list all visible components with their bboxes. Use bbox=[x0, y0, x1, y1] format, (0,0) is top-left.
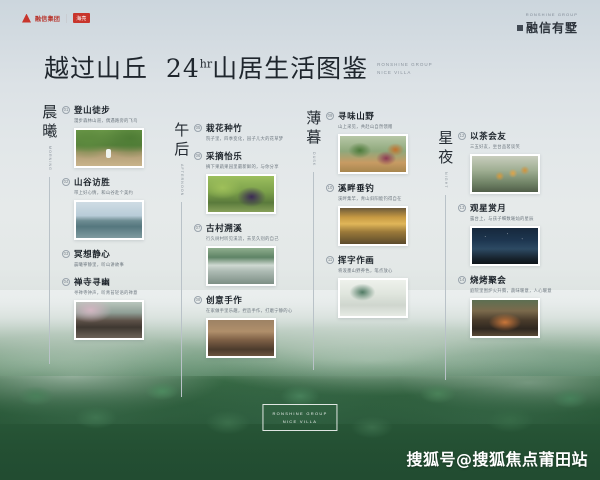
mountain-hiking-trail-photo bbox=[76, 130, 142, 166]
poster-title-main: 越过山丘 24hr山居生活图鉴 bbox=[44, 56, 368, 81]
sohu-watermark: 搜狐号@搜狐焦点莆田站 bbox=[406, 446, 588, 470]
poster-title: 越过山丘 24hr山居生活图鉴 RONSHINE GROUP NICE VILL… bbox=[44, 56, 433, 81]
entry-title: 溪畔垂钓 bbox=[338, 182, 374, 194]
starry-night-sky-photo bbox=[472, 228, 538, 264]
brand-logo-left-badge: 海亮 bbox=[73, 13, 89, 23]
entry-title: 观星赏月 bbox=[470, 202, 506, 214]
entry-bullet-icon: 11 bbox=[326, 256, 334, 264]
brand-logo-right: RONSHINE GROUP 融信有墅 bbox=[517, 12, 578, 36]
entry-card[interactable]: 11 挥字作画 将泼墨山野养色，笔点放心 bbox=[326, 254, 440, 318]
entry-thumbnail[interactable] bbox=[74, 200, 144, 240]
entry-bullet-icon: 13 bbox=[458, 204, 466, 212]
entry-thumbnail[interactable] bbox=[338, 278, 408, 318]
entry-description: 露台上，与孩子细数璀灿的星辰 bbox=[470, 216, 572, 222]
column-night: 星夜 NIGHT 12 以茶会友 三五好友，坐台品茗谈笑 13 观星赏月 bbox=[432, 130, 572, 380]
river-stream-village-photo bbox=[208, 248, 274, 284]
column-afternoon-label-en: AFTERNOON bbox=[180, 164, 184, 196]
column-morning-label: 晨曦 MORNING bbox=[36, 104, 62, 364]
entry-bullet-icon: 14 bbox=[458, 276, 466, 284]
column-morning: 晨曦 MORNING 01 登山徒步 漫步森林山道，偶遇路旁的飞鸟 02 山谷访 bbox=[36, 104, 176, 364]
column-afternoon-label: 午后 AFTERNOON bbox=[168, 122, 194, 397]
column-morning-entries: 01 登山徒步 漫步森林山道，偶遇路旁的飞鸟 02 山谷访胜 带上好心情，和山谷… bbox=[62, 104, 176, 364]
column-afternoon-label-cn: 午后 bbox=[173, 122, 190, 160]
entry-card[interactable]: 07 古村溯溪 行久树村听见溪流，去见久别的自己 bbox=[194, 222, 308, 286]
entry-title: 古村溯溪 bbox=[206, 222, 242, 234]
ronshine-triangle-icon bbox=[22, 14, 31, 23]
entry-thumbnail[interactable] bbox=[470, 154, 540, 194]
column-afternoon: 午后 AFTERNOON 05 栽花种竹 院子里，四季变化，园子儿大的花草梦 0… bbox=[168, 122, 308, 397]
title-en-line2: NICE VILLA bbox=[377, 69, 433, 77]
hands-pottery-craft-photo bbox=[208, 320, 274, 356]
entry-title: 采摘怡乐 bbox=[206, 150, 242, 162]
entry-card[interactable]: 02 山谷访胜 带上好心情，和山谷赴个美约 bbox=[62, 176, 176, 240]
entry-description: 院子里，四季变化，园子儿大的花草梦 bbox=[206, 136, 308, 142]
column-night-entries: 12 以茶会友 三五好友，坐台品茗谈笑 13 观星赏月 露台上，与孩子细数璀灿的… bbox=[458, 130, 572, 380]
golden-sunset-fishing-boat-photo bbox=[340, 208, 406, 244]
entry-card[interactable]: 09 寻味山野 山上采见，共赴山自然馈赠 bbox=[326, 110, 440, 174]
column-dusk-entries: 09 寻味山野 山上采见，共赴山自然馈赠 10 溪畔垂钓 溪畔集竿，青山斜阳能钓… bbox=[326, 110, 440, 370]
entry-card[interactable]: 12 以茶会友 三五好友，坐台品茗谈笑 bbox=[458, 130, 572, 194]
entry-thumbnail[interactable] bbox=[470, 226, 540, 266]
column-dusk-label-en: DUSK bbox=[312, 152, 316, 166]
entry-description: 寻禅寺钟声，听青苔轻语的禅意 bbox=[74, 290, 176, 296]
bbq-grill-gathering-photo bbox=[472, 300, 538, 336]
column-morning-rule bbox=[49, 177, 50, 364]
entry-description: 山上采见，共赴山自然馈赠 bbox=[338, 124, 440, 130]
entry-bullet-icon: 10 bbox=[326, 184, 334, 192]
entry-thumbnail[interactable] bbox=[74, 300, 144, 340]
grape-vineyard-harvest-photo bbox=[208, 176, 274, 212]
column-afternoon-entries: 05 栽花种竹 院子里，四季变化，园子儿大的花草梦 06 采摘怡乐 摘下果蔬果园… bbox=[194, 122, 308, 397]
brand-logo-right-cn: 融信有墅 bbox=[517, 19, 578, 36]
column-night-label: 星夜 NIGHT bbox=[432, 130, 458, 380]
entry-bullet-icon: 12 bbox=[458, 132, 466, 140]
entry-thumbnail[interactable] bbox=[206, 246, 276, 286]
entry-description: 带上好心情，和山谷赴个美约 bbox=[74, 190, 176, 196]
entry-bullet-icon: 08 bbox=[194, 296, 202, 304]
misty-valley-lake-photo bbox=[76, 202, 142, 238]
column-morning-label-en: MORNING bbox=[48, 146, 52, 171]
title-en-line1: RONSHINE GROUP bbox=[377, 61, 433, 69]
entry-card[interactable]: 13 观星赏月 露台上，与孩子细数璀灿的星辰 bbox=[458, 202, 572, 266]
entry-description: 晨曦寧静里，听山讲故事 bbox=[74, 262, 176, 268]
entry-bullet-icon: 02 bbox=[62, 178, 70, 186]
entry-title: 挥字作画 bbox=[338, 254, 374, 266]
column-dusk: 薄暮 DUSK 09 寻味山野 山上采见，共赴山自然馈赠 10 溪畔垂钓 bbox=[300, 110, 440, 370]
entry-thumbnail[interactable] bbox=[206, 174, 276, 214]
poster-title-en: RONSHINE GROUP NICE VILLA bbox=[377, 61, 433, 81]
entry-bullet-icon: 03 bbox=[62, 250, 70, 258]
entry-description: 行久树村听见溪流，去见久别的自己 bbox=[206, 236, 308, 242]
entry-title: 山谷访胜 bbox=[74, 176, 110, 188]
column-dusk-label: 薄暮 DUSK bbox=[300, 110, 326, 370]
entry-title: 登山徒步 bbox=[74, 104, 110, 116]
entry-title: 寻味山野 bbox=[338, 110, 374, 122]
column-morning-label-cn: 晨曦 bbox=[41, 104, 58, 142]
entry-title: 烧烤聚会 bbox=[470, 274, 506, 286]
footer-logo-line2: NICE VILLA bbox=[272, 418, 327, 426]
column-night-label-cn: 星夜 bbox=[437, 130, 454, 168]
entry-description: 摘下果蔬果园里最新鲜的，与你分享 bbox=[206, 164, 308, 170]
logo-square-icon bbox=[517, 25, 523, 31]
entry-title: 栽花种竹 bbox=[206, 122, 242, 134]
entry-description: 在家做手里乐趣，捏造手作，打磨宁静的心 bbox=[206, 308, 308, 314]
logo-divider bbox=[66, 14, 67, 23]
tea-cups-pouring-photo bbox=[472, 156, 538, 192]
entry-bullet-icon: 05 bbox=[194, 124, 202, 132]
entry-bullet-icon: 06 bbox=[194, 152, 202, 160]
entry-card[interactable]: 05 栽花种竹 院子里，四季变化，园子儿大的花草梦 bbox=[194, 122, 308, 142]
column-night-rule bbox=[445, 195, 446, 380]
entry-bullet-icon: 07 bbox=[194, 224, 202, 232]
entry-description: 庭院里围炉火升腾，蔬味暖意，人心暖意 bbox=[470, 288, 572, 294]
column-night-label-en: NIGHT bbox=[444, 172, 448, 189]
column-dusk-rule bbox=[313, 172, 314, 370]
entry-thumbnail[interactable] bbox=[74, 128, 144, 168]
entry-thumbnail[interactable] bbox=[338, 206, 408, 246]
entry-card[interactable]: 06 采摘怡乐 摘下果蔬果园里最新鲜的，与你分享 bbox=[194, 150, 308, 214]
poster-canvas: 融信集团 海亮 RONSHINE GROUP 融信有墅 越过山丘 24hr山居生… bbox=[0, 0, 600, 480]
entry-card[interactable]: 08 创意手作 在家做手里乐趣，捏造手作，打磨宁静的心 bbox=[194, 294, 308, 358]
brand-logo-right-en: RONSHINE GROUP bbox=[517, 12, 578, 17]
entry-title: 冥想静心 bbox=[74, 248, 110, 260]
entry-card[interactable]: 03 冥想静心 晨曦寧静里，听山讲故事 bbox=[62, 248, 176, 268]
entry-card[interactable]: 10 溪畔垂钓 溪畔集竿，青山斜阳能钓得自在 bbox=[326, 182, 440, 246]
brand-logo-left: 融信集团 海亮 bbox=[22, 13, 90, 23]
entry-description: 溪畔集竿，青山斜阳能钓得自在 bbox=[338, 196, 440, 202]
entry-thumbnail[interactable] bbox=[206, 318, 276, 358]
entry-card[interactable]: 14 烧烤聚会 庭院里围炉火升腾，蔬味暖意，人心暖意 bbox=[458, 274, 572, 338]
entry-bullet-icon: 04 bbox=[62, 278, 70, 286]
calligraphy-painting-photo bbox=[340, 280, 406, 316]
entry-title: 创意手作 bbox=[206, 294, 242, 306]
column-afternoon-rule bbox=[181, 202, 182, 397]
entry-description: 三五好友，坐台品茗谈笑 bbox=[470, 144, 572, 150]
entry-description: 漫步森林山道，偶遇路旁的飞鸟 bbox=[74, 118, 176, 124]
entry-bullet-icon: 09 bbox=[326, 112, 334, 120]
entry-description: 将泼墨山野养色，笔点放心 bbox=[338, 268, 440, 274]
timeline-columns: 晨曦 MORNING 01 登山徒步 漫步森林山道，偶遇路旁的飞鸟 02 山谷访 bbox=[0, 104, 600, 394]
footer-logo: RONSHINE GROUP NICE VILLA bbox=[262, 404, 337, 431]
entry-title: 以茶会友 bbox=[470, 130, 506, 142]
title-part-before: 越过山丘 bbox=[44, 54, 148, 83]
title-part-after: 山居生活图鉴 bbox=[212, 54, 368, 83]
entry-card[interactable]: 04 禅寺寻幽 寻禅寺钟声，听青苔轻语的禅意 bbox=[62, 276, 176, 340]
entry-bullet-icon: 01 bbox=[62, 106, 70, 114]
title-unit: hr bbox=[200, 58, 212, 71]
entry-thumbnail[interactable] bbox=[470, 298, 540, 338]
brand-logo-left-name: 融信集团 bbox=[35, 14, 60, 23]
column-dusk-label-cn: 薄暮 bbox=[305, 110, 322, 148]
fresh-vegetables-harvest-photo bbox=[340, 136, 406, 172]
footer-logo-line1: RONSHINE GROUP bbox=[272, 410, 327, 418]
entry-thumbnail[interactable] bbox=[338, 134, 408, 174]
entry-title: 禅寺寻幽 bbox=[74, 276, 110, 288]
title-number: 24 bbox=[166, 54, 200, 83]
entry-card[interactable]: 01 登山徒步 漫步森林山道，偶遇路旁的飞鸟 bbox=[62, 104, 176, 168]
temple-roof-cherry-blossom-photo bbox=[76, 302, 142, 338]
